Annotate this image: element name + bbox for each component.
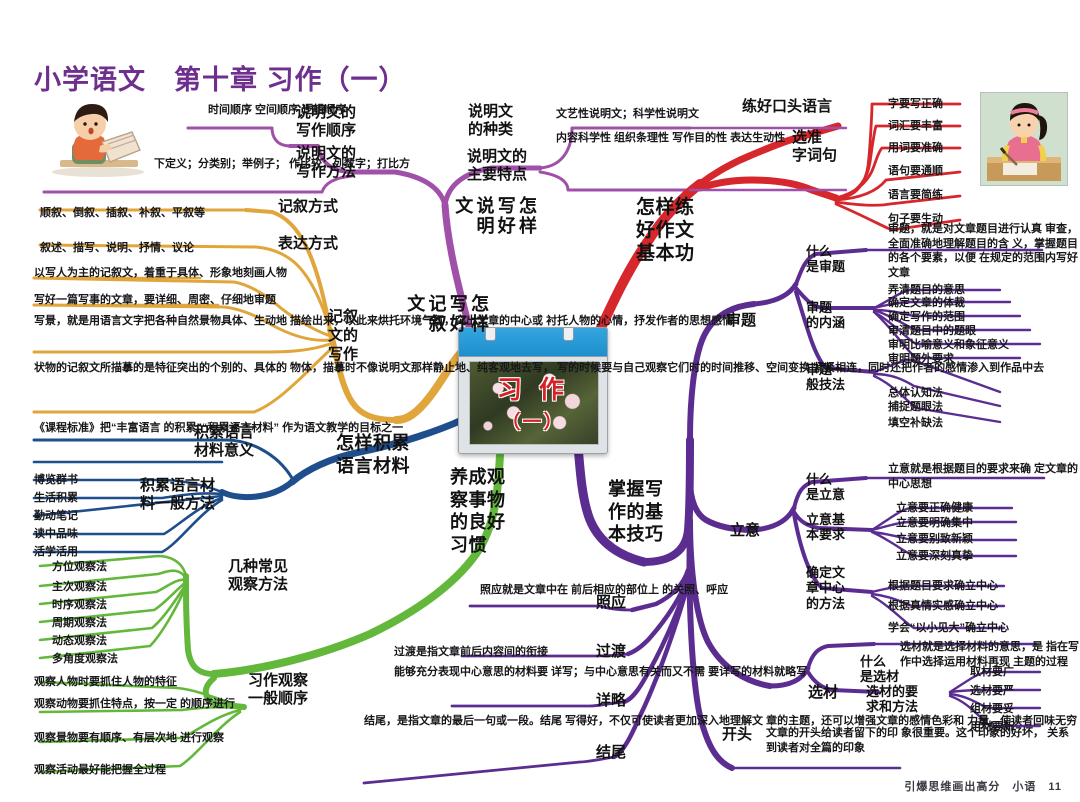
branch-label-lianjibengong[interactable]: 怎样练 好作文 基本功	[636, 196, 695, 266]
leaf-zhonglei-list: 文艺性说明文；科学性说明文	[556, 107, 699, 122]
node-guancha-fangfa[interactable]: 几种常见 观察方法	[228, 558, 288, 593]
node-guodu[interactable]: 过渡	[596, 643, 626, 661]
leaf-jifa-1: 总体认知法	[888, 386, 943, 401]
leaf-guancha-6: 多角度观察法	[52, 652, 118, 667]
binder-ring-right	[563, 327, 574, 341]
leaf-zici-1: 字要写正确	[888, 97, 943, 112]
node-shenme-shi-liyi[interactable]: 什么 是立意	[806, 472, 845, 503]
leaf-xuancai-2: 选材要严	[970, 684, 1014, 699]
leaf-xuancai-1: 取材要广	[970, 665, 1014, 680]
node-kaitou[interactable]: 开头	[722, 726, 752, 744]
branch-label-jileiyuyan[interactable]: 怎样积累 语言材料	[336, 432, 410, 477]
leaf-shunxu-4: 观察活动最好能把握全过程	[34, 763, 166, 778]
node-xuancai[interactable]: 选材	[808, 684, 838, 702]
leaf-jiewei-text: 结尾，是指文章的最后一句或一段。结尾 写得好，不仅可使读者更加深入地理解文 章的…	[364, 714, 1077, 729]
node-jilei-fangfa[interactable]: 积累语言材 料一般方法	[140, 477, 215, 512]
leaf-jilei-1: 博览群书	[34, 473, 78, 488]
leaf-jilei-3: 勤动笔记	[34, 509, 78, 524]
leaf-shunxu-list: 时间顺序 空间顺序 逻辑顺序	[208, 103, 346, 118]
leaf-liyi-def: 立意就是根据题目的要求来确 定文章的中心思想	[888, 462, 1080, 491]
leaf-kaitou-text: 文章的开头给读者留下的印 象很重要。这个印象的好坏， 关系到读者对全篇的印象	[766, 726, 1080, 755]
node-liyi[interactable]: 立意	[730, 522, 760, 540]
leaf-zici-3: 用词要准确	[888, 141, 943, 156]
leaf-shunxu-1: 观察人物时要抓住人物的特征	[34, 675, 177, 690]
leaf-zhongxin-3: 学会“以小见大”确立中心	[888, 621, 1009, 636]
branch-label-shuomingwen[interactable]: 怎样 写好 说明 文	[452, 196, 537, 236]
page-footer: 引爆思维画出高分 小语 11	[904, 778, 1062, 794]
branch-label-xiezuojiqiao[interactable]: 掌握写 作的基 本技巧	[608, 478, 664, 546]
leaf-liyi-3: 立意要别致新颖	[896, 532, 973, 547]
leaf-xianglue-text: 能够充分表现中心意思的材料要 详写；与中心意思有关而又不需 要详写的材料就略写	[394, 665, 807, 680]
leaf-shenti-def: 审题，就是对文章题目进行认真 审查，全面准确地理解题目的含 义，掌握题目的各个要…	[888, 222, 1080, 280]
leaf-guancha-1: 方位观察法	[52, 560, 107, 575]
node-shenme-shi-xuancai[interactable]: 什么 是选材	[860, 654, 899, 685]
node-lianhao-koutou[interactable]: 练好口头语言	[742, 98, 832, 116]
leaf-jilei-yiyi-text: 《课程标准》把“丰富语言 的积累”“积累语言材料” 作为语文教学的目标之一	[34, 421, 403, 436]
node-shuomingwen-tedian[interactable]: 说明文的 主要特点	[467, 148, 527, 183]
node-shuomingwen-zhonglei[interactable]: 说明文 的种类	[468, 103, 513, 138]
node-shenti[interactable]: 审题	[726, 312, 756, 330]
leaf-neihan-6: 审明题外要求	[888, 352, 954, 367]
leaf-guancha-2: 主次观察法	[52, 580, 107, 595]
leaf-liyi-2: 立意要明确集中	[896, 516, 973, 531]
center-topic-line2: （一）	[501, 407, 564, 434]
leaf-zici-5: 语言要简练	[888, 188, 943, 203]
leaf-jilei-5: 活学活用	[34, 545, 78, 560]
leaf-xiezuo-3: 写景，就是用语言文字把各种自然景物具体、生动地 描绘出来，以此来烘托环境气氛，突…	[34, 314, 733, 329]
node-xianglue[interactable]: 详略	[596, 692, 626, 710]
leaf-jifa-2: 捕捉题眼法	[888, 400, 943, 415]
page-title: 小学语文 第十章 习作（一）	[34, 58, 407, 97]
leaf-jilei-4: 读中品味	[34, 527, 78, 542]
leaf-guodu-text: 过渡是指文章前后内容间的衔接	[394, 645, 548, 660]
boy-reading-illustration	[42, 98, 162, 180]
leaf-zici-2: 词汇要丰富	[888, 119, 943, 134]
leaf-neihan-3: 确定写作的范围	[888, 310, 965, 325]
node-shenme-shi-shenti[interactable]: 什么 是审题	[806, 244, 845, 275]
center-topic-card[interactable]: 习 作 （一）	[458, 327, 608, 454]
leaf-xiezuo-1: 以写人为主的记叙文，着重于具体、形象地刻画人物	[34, 266, 287, 281]
leaf-fangfa-list: 下定义；分类别；举例子； 作比较；列数字；打比方	[154, 157, 410, 172]
node-shenti-jifa[interactable]: 审题一 般技法	[806, 362, 845, 393]
leaf-jixufangshi-list: 顺叙、倒叙、插叙、补叙、平叙等	[40, 206, 205, 221]
node-xuanzhun-zicju[interactable]: 选准 字词句	[792, 129, 837, 164]
leaf-neihan-5: 审明比喻意义和象征意义	[888, 338, 1009, 353]
leaf-zici-4: 语句要通顺	[888, 164, 943, 179]
node-queding-zhongxin[interactable]: 确定文 章中心 的方法	[806, 565, 845, 611]
leaf-liyi-4: 立意要深刻真挚	[896, 549, 973, 564]
node-guancha-shunxu[interactable]: 习作观察 一般顺序	[248, 672, 308, 707]
leaf-xiezuo-2: 写好一篇写事的文章，要详细、周密、仔细地审题	[34, 293, 276, 308]
leaf-shunxu-3: 观察景物要有顺序、有层次地 进行观察	[34, 731, 224, 746]
node-jixufangshi[interactable]: 记叙方式	[278, 198, 338, 216]
leaf-neihan-2: 确定文章的体裁	[888, 296, 965, 311]
leaf-liyi-1: 立意要正确健康	[896, 501, 973, 516]
leaf-zhaoying-text: 照应就是文章中在 前后相应的部位上 的关照、呼应	[480, 583, 728, 598]
node-shenti-neihan[interactable]: 审题 的内涵	[806, 300, 845, 331]
leaf-shunxu-2: 观察动物要抓住特点，按一定 的顺序进行	[34, 697, 235, 712]
mindmap-canvas: 小学语文 第十章 习作（一）	[0, 0, 1080, 802]
leaf-tedian-list: 内容科学性 组织条理性 写作目的性 表达生动性	[556, 131, 785, 146]
leaf-neihan-4: 审清题目中的题眼	[888, 324, 976, 339]
leaf-biaodafangshi-list: 叙述、描写、说明、抒情、议论	[40, 241, 194, 256]
leaf-zhongxin-1: 根据题目要求确立中心	[888, 579, 998, 594]
node-biaodafangshi[interactable]: 表达方式	[278, 235, 338, 253]
leaf-guancha-4: 周期观察法	[52, 616, 107, 631]
leaf-guancha-3: 时序观察法	[52, 598, 107, 613]
node-xuancai-yaoqiu[interactable]: 选材的要 求和方法	[866, 684, 918, 715]
leaf-guancha-5: 动态观察法	[52, 634, 107, 649]
node-liyi-yaoqiu[interactable]: 立意基 本要求	[806, 512, 845, 543]
leaf-jifa-3: 填空补缺法	[888, 416, 943, 431]
girl-writing-illustration	[980, 92, 1068, 186]
node-jiewei[interactable]: 结尾	[596, 744, 626, 762]
leaf-zhongxin-2: 根据真情实感确立中心	[888, 599, 998, 614]
leaf-jilei-2: 生活积累	[34, 491, 78, 506]
branch-label-guanchaxiguan[interactable]: 养成观 察事物 的良好 习惯	[450, 466, 506, 556]
